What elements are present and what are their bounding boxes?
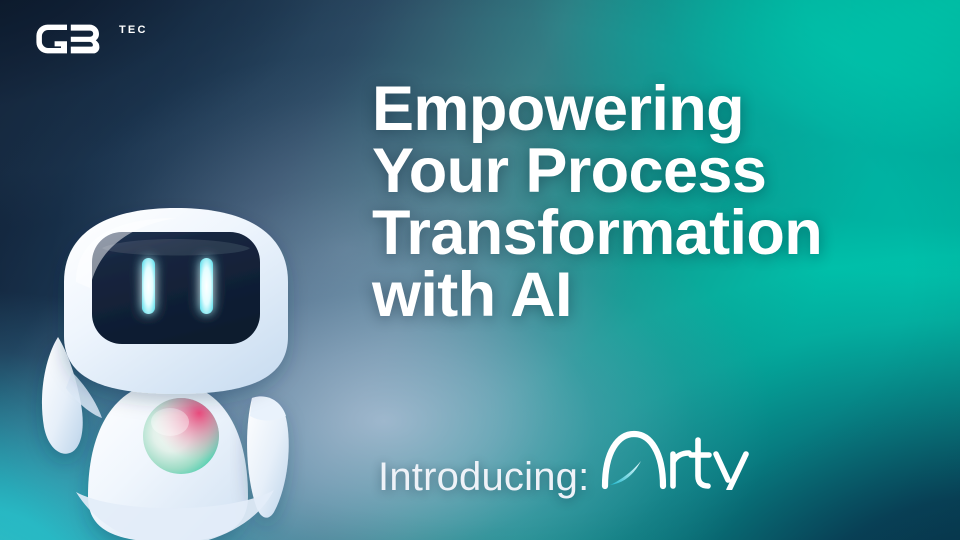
robot-eye-right <box>200 258 213 314</box>
gbtec-logo[interactable]: TEC <box>34 22 148 56</box>
headline-line-4: with AI <box>372 264 932 326</box>
slide-canvas: TEC Empowering Your Process Transformati… <box>0 0 960 540</box>
page-title: Empowering Your Process Transformation w… <box>372 78 932 326</box>
headline-line-1: Empowering <box>372 78 932 140</box>
robot-chest-orb <box>143 398 219 474</box>
logo-suffix-text: TEC <box>119 25 148 36</box>
arty-wordmark-logo <box>601 428 751 490</box>
headline-line-2: Your Process <box>372 140 932 202</box>
product-introduction: Introducing: <box>378 428 751 497</box>
headline-line-3: Transformation <box>372 202 932 264</box>
arty-robot-mascot <box>6 196 346 540</box>
robot-eye-left <box>142 258 155 314</box>
introducing-label: Introducing: <box>378 457 589 497</box>
gb-monogram-icon <box>34 22 112 56</box>
robot-head <box>64 208 288 394</box>
